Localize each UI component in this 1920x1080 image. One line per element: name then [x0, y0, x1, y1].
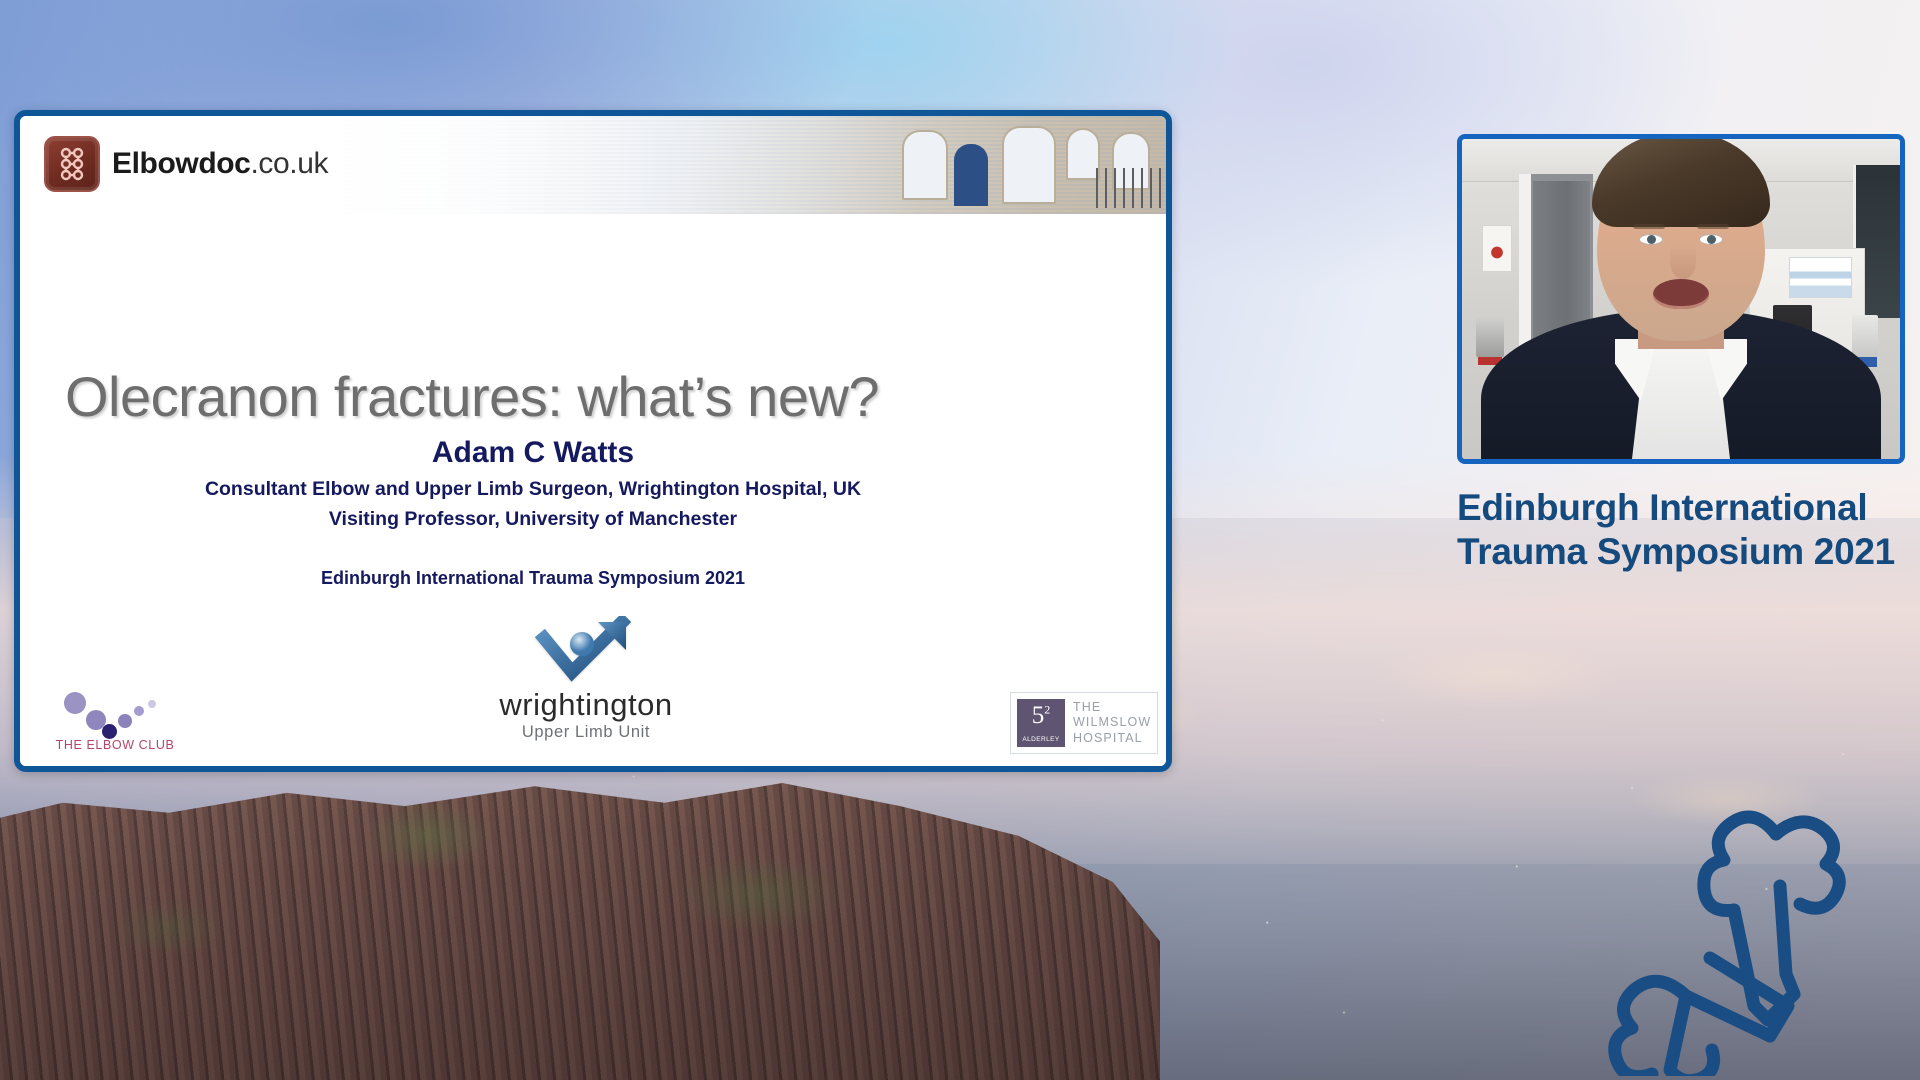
speaker-name: Adam C Watts: [20, 436, 1046, 470]
elbow-club-dot: [148, 700, 156, 708]
building-window: [1066, 128, 1100, 180]
alderley-digit: 5: [1032, 702, 1045, 729]
slide-title: Olecranon fractures: what’s new?: [65, 364, 1065, 429]
presentation-viewer: Elbowdoc.co.uk Olecranon fractures: what…: [0, 0, 1920, 1080]
alderley-word: ALDERLEY: [1017, 736, 1065, 743]
alderley-exponent: 2: [1044, 703, 1050, 717]
building-railing: [1096, 168, 1166, 208]
elbow-club-label: THE ELBOW CLUB: [40, 738, 190, 752]
wrightington-tick-arrow-icon: [526, 616, 646, 684]
slide-surface: Elbowdoc.co.uk Olecranon fractures: what…: [20, 116, 1166, 766]
wall-dispenser: [1476, 318, 1504, 356]
speaker-eye: [1699, 234, 1723, 245]
elbow-club-dot: [64, 692, 86, 714]
elbowdoc-name: Elbowdoc: [112, 147, 250, 180]
wall-sign: [1482, 225, 1512, 272]
wilmslow-hospital-logo: 52 ALDERLEY THE WILMSLOW HOSPITAL: [1010, 692, 1158, 754]
speaker-role-2: Visiting Professor, University of Manche…: [20, 508, 1046, 531]
wall-poster: [1789, 257, 1852, 297]
building-door: [954, 144, 988, 206]
wilmslow-line-2: WILMSLOW: [1073, 715, 1151, 730]
building-window: [902, 130, 948, 200]
slide-event-name: Edinburgh International Trauma Symposium…: [20, 568, 1046, 589]
wilmslow-wordmark: THE WILMSLOW HOSPITAL: [1073, 700, 1151, 746]
speaker-role-1: Consultant Elbow and Upper Limb Surgeon,…: [20, 478, 1046, 501]
speaker-eyebrow: [1633, 224, 1665, 229]
slide-panel[interactable]: Elbowdoc.co.uk Olecranon fractures: what…: [14, 110, 1172, 772]
elbow-club-dot: [102, 724, 117, 739]
building-photo: [866, 116, 1166, 214]
speaker-eyebrow: [1697, 224, 1729, 229]
wrightington-logo: wrightington Upper Limb Unit: [486, 616, 686, 742]
elbow-club-logo: THE ELBOW CLUB: [40, 690, 190, 752]
elbowdoc-wordmark: Elbowdoc.co.uk: [112, 147, 328, 181]
alderley-number: 52: [1017, 703, 1065, 728]
wilmslow-line-3: HOSPITAL: [1073, 731, 1151, 746]
wilmslow-line-1: THE: [1073, 700, 1151, 715]
speaker-nose: [1670, 245, 1696, 279]
building-window: [1002, 126, 1056, 204]
alderley-mark-icon: 52 ALDERLEY: [1017, 699, 1065, 747]
speaker-eye: [1639, 234, 1663, 245]
elbow-club-dot: [134, 706, 144, 716]
hand-sanitiser: [1852, 315, 1878, 357]
elbowdoc-logo: Elbowdoc.co.uk: [44, 136, 328, 192]
wrightington-subtitle: Upper Limb Unit: [486, 723, 686, 742]
broken-bone-icon: [1580, 746, 1910, 1076]
speaker-mouth: [1653, 279, 1709, 309]
elbowdoc-tld: .co.uk: [250, 147, 328, 180]
event-title: Edinburgh International Trauma Symposium…: [1457, 486, 1903, 573]
elbow-joint-icon: [44, 136, 100, 192]
elbow-club-dot: [118, 714, 132, 728]
speaker-video-feed[interactable]: [1457, 134, 1905, 464]
wrightington-name: wrightington: [486, 689, 686, 720]
slide-header-banner: [320, 116, 1166, 214]
